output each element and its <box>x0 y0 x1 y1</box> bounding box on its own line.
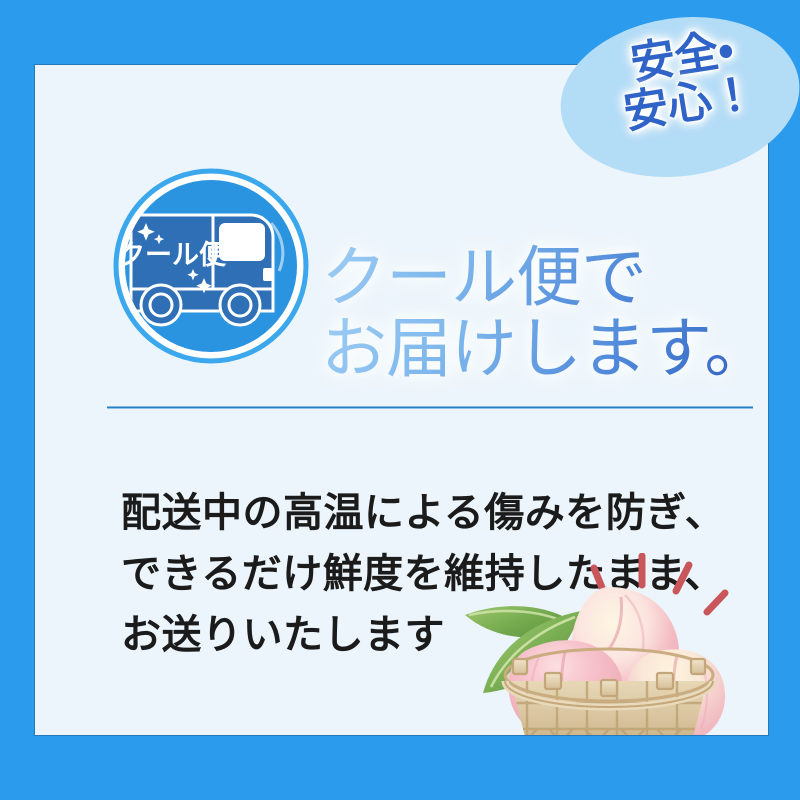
heading-line-2: お届けします。 <box>321 314 768 385</box>
section-divider <box>107 406 753 409</box>
truck-icon: クール便 <box>118 215 283 325</box>
body-line-1: 配送中の高温による傷みを防ぎ、 <box>121 483 741 544</box>
truck-label: クール便 <box>118 240 227 271</box>
peaches-in-basket-illustration <box>453 553 763 735</box>
safety-assurance-badge: 安全・ 安心！ <box>560 18 800 176</box>
promo-banner: クール便 クール便で お届けします。 配送中の高温による傷みを防ぎ、 できるだけ… <box>0 0 800 800</box>
cool-delivery-truck-badge: クール便 <box>113 168 309 364</box>
page-title: クール便で お届けします。 <box>321 243 768 386</box>
heading-line-1: クール便で <box>321 243 768 314</box>
